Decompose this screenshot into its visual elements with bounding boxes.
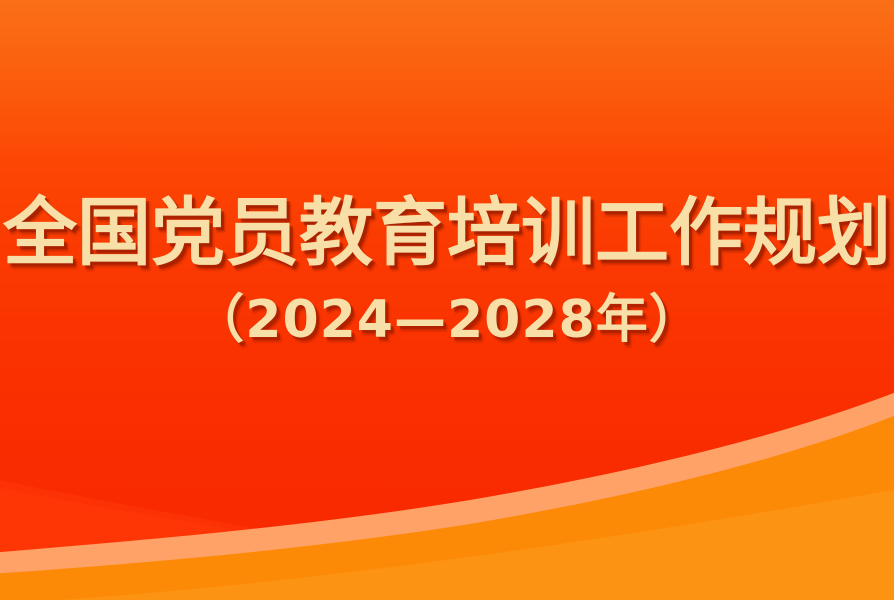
page-subtitle-years: （2024—2028年） (0, 270, 894, 346)
poster-banner: 全国党员教育培训工作规划 （2024—2028年） (0, 0, 894, 600)
curved-highlight-band (0, 389, 894, 600)
curved-orange-sweep (0, 412, 894, 600)
page-title: 全国党员教育培训工作规划 (0, 196, 894, 270)
curved-orange-inner-highlight (60, 488, 894, 600)
title-block: 全国党员教育培训工作规划 （2024—2028年） (0, 196, 894, 346)
diagonal-red-streak (0, 486, 620, 600)
diagonal-red-streak-soft (0, 478, 560, 600)
